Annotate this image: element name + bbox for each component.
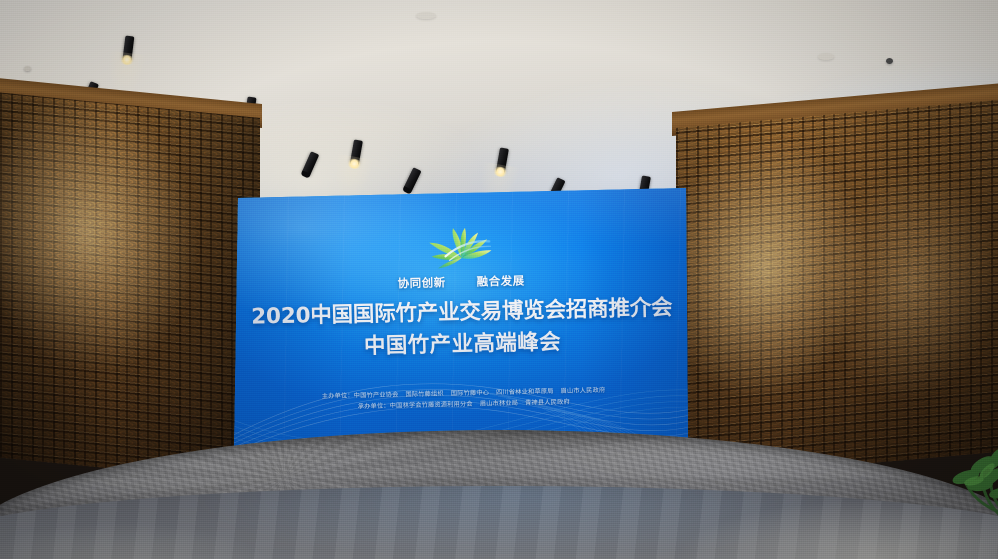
conference-hall-photo: 协同创新 融合发展 2020中国国际竹产业交易博览会招商推介会 中国竹产业高端峰…: [0, 0, 998, 559]
ceiling-downlight-icon: [818, 53, 834, 60]
ceiling-downlight-icon: [416, 12, 436, 19]
led-screen-surface[interactable]: 协同创新 融合发展 2020中国国际竹产业交易博览会招商推介会 中国竹产业高端峰…: [232, 188, 692, 454]
ceiling-sensor-icon: [886, 58, 893, 64]
screen-vignette: [232, 188, 692, 454]
woven-bamboo-wall-left: [0, 92, 260, 483]
track-spotlight: [123, 36, 135, 60]
led-screen[interactable]: 协同创新 融合发展 2020中国国际竹产业交易博览会招商推介会 中国竹产业高端峰…: [232, 188, 692, 454]
smoke-detector-icon: [24, 66, 31, 71]
potted-plant: [884, 413, 998, 523]
wall-left-lighting: [0, 92, 260, 483]
